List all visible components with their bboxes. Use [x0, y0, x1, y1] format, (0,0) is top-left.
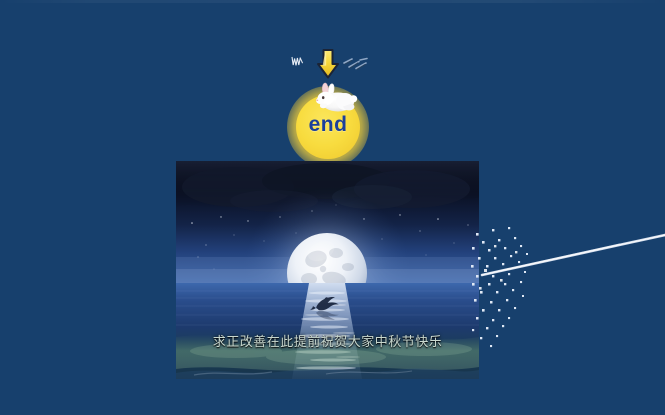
small-dark-glyph-icon	[290, 54, 306, 70]
rabbit-icon	[306, 82, 360, 116]
down-arrow-icon	[313, 48, 343, 80]
moon-ocean-artwork	[176, 161, 479, 379]
top-sheen	[0, 0, 665, 3]
motion-streaks-icon	[343, 56, 369, 72]
page-canvas: end	[0, 0, 665, 415]
end-label: end	[296, 114, 360, 136]
glyph-row	[283, 48, 378, 80]
end-badge[interactable]: end	[296, 95, 360, 159]
moon-ocean-photo: 求正改善在此提前祝贺大家中秋节快乐	[176, 161, 479, 379]
shooting-star-sparkle	[470, 225, 665, 365]
